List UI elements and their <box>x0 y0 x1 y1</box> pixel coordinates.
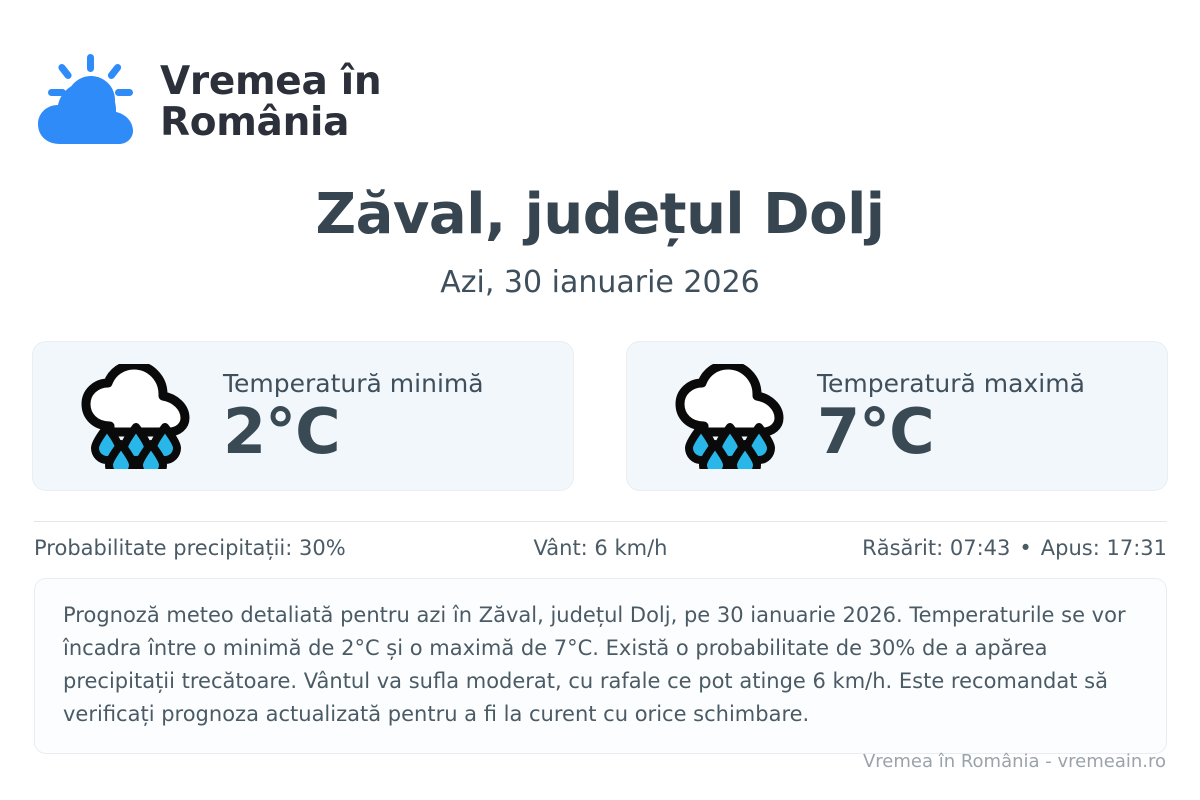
cloud-rain-icon <box>671 364 789 469</box>
cloud-rain-icon <box>77 364 195 469</box>
stat-sunrise: Răsărit: 07:43 <box>862 536 1010 560</box>
page-title: Zăval, județul Dolj <box>0 182 1200 247</box>
brand-name: Vremea în România <box>160 61 381 144</box>
card-min-temperature: Temperatură minimă 2°C <box>32 341 574 491</box>
sun-behind-cloud-icon <box>34 52 142 152</box>
stat-wind: Vânt: 6 km/h <box>412 536 790 560</box>
temperature-cards: Temperatură minimă 2°C Temper <box>32 341 1168 491</box>
weather-page: Vremea în România Zăval, județul Dolj Az… <box>0 0 1200 800</box>
forecast-description-box: Prognoză meteo detaliată pentru azi în Z… <box>34 578 1167 754</box>
card-max-body: Temperatură maximă 7°C <box>817 369 1085 463</box>
card-max-label: Temperatură maximă <box>817 369 1085 398</box>
stat-sun-times: Răsărit: 07:43•Apus: 17:31 <box>789 536 1167 560</box>
stats-divider <box>34 521 1167 522</box>
stat-precipitation: Probabilitate precipitații: 30% <box>34 536 412 560</box>
card-min-body: Temperatură minimă 2°C <box>223 369 484 463</box>
card-max-value: 7°C <box>817 400 1085 463</box>
stat-separator: • <box>1010 536 1040 560</box>
stats-row: Probabilitate precipitații: 30% Vânt: 6 … <box>34 536 1167 560</box>
footer-credit: Vremea în România - vremeain.ro <box>863 751 1166 772</box>
card-max-temperature: Temperatură maximă 7°C <box>626 341 1168 491</box>
forecast-description-text: Prognoză meteo detaliată pentru azi în Z… <box>63 599 1138 731</box>
stat-sunset: Apus: 17:31 <box>1041 536 1167 560</box>
card-min-label: Temperatură minimă <box>223 369 484 398</box>
brand-logo[interactable]: Vremea în România <box>34 52 381 152</box>
page-date: Azi, 30 ianuarie 2026 <box>0 265 1200 300</box>
card-min-value: 2°C <box>223 400 484 463</box>
